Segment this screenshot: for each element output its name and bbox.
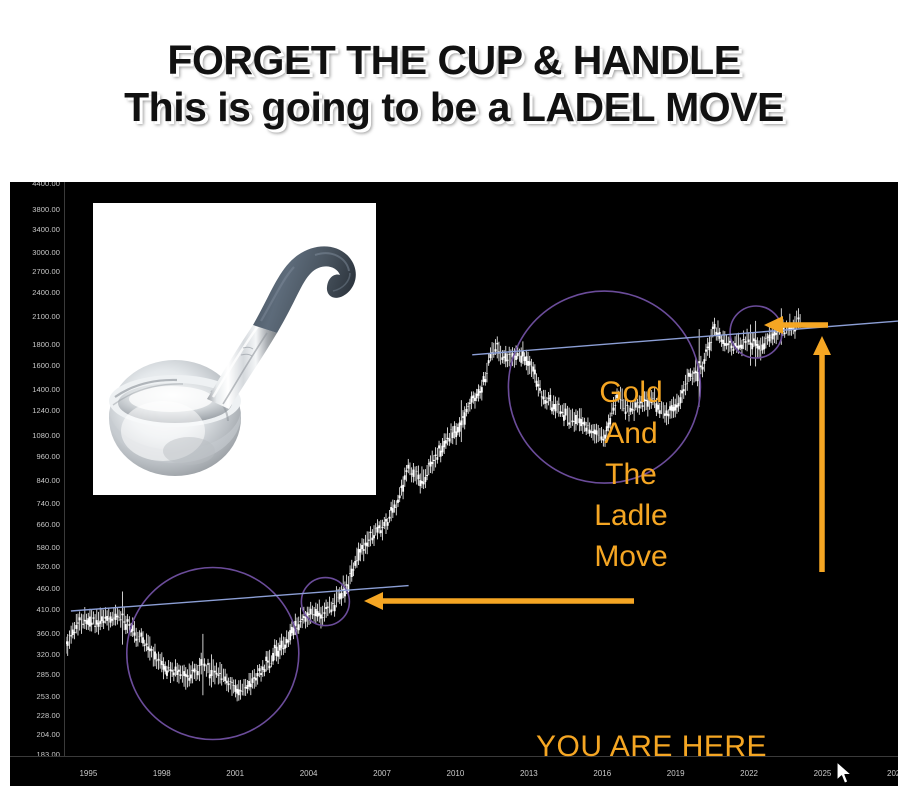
you-are-here-label: YOU ARE HERE: [536, 730, 767, 764]
x-axis-tick-label: 2007: [373, 769, 391, 778]
y-axis-tick-label: 960.00: [36, 452, 60, 461]
y-axis-tick-label: 228.00: [36, 711, 60, 720]
y-axis-tick-label: 2100.00: [32, 312, 60, 321]
y-axis-divider: [64, 182, 65, 757]
headline-line-2: This is going to be a LADEL MOVE: [0, 87, 908, 128]
x-axis-tick-label: 2025: [814, 769, 832, 778]
poster-root: FORGET THE CUP & HANDLE This is going to…: [0, 0, 908, 800]
x-axis-tick-label: 2001: [226, 769, 244, 778]
y-axis-tick-label: 4400.00: [32, 182, 60, 188]
y-axis-tick-label: 320.00: [36, 650, 60, 659]
mouse-pointer-icon: [836, 761, 854, 787]
ladle-photo: [93, 203, 376, 495]
y-axis-tick-label: 253.00: [36, 692, 60, 701]
x-axis-tick-label: 2004: [300, 769, 318, 778]
gold-ladle-line: Ladle: [576, 495, 686, 536]
x-axis-tick-label: 1995: [79, 769, 97, 778]
y-axis-tick-label: 520.00: [36, 562, 60, 571]
ladle-illustration: [93, 203, 376, 495]
x-axis-tick-label: 2013: [520, 769, 538, 778]
y-axis-tick-label: 740.00: [36, 499, 60, 508]
y-axis-tick-label: 1080.00: [32, 431, 60, 440]
y-axis-tick-label: 840.00: [36, 476, 60, 485]
y-axis-tick-label: 1400.00: [32, 385, 60, 394]
x-axis-tick-label: 2016: [593, 769, 611, 778]
x-axis-tick-label: 2019: [667, 769, 685, 778]
y-axis-tick-label: 204.00: [36, 730, 60, 739]
y-axis-tick-label: 1600.00: [32, 361, 60, 370]
y-axis: 4400.003800.003400.003000.002700.002400.…: [10, 182, 64, 757]
y-axis-tick-label: 2700.00: [32, 267, 60, 276]
y-axis-tick-label: 285.00: [36, 670, 60, 679]
gold-ladle-line: The: [576, 454, 686, 495]
y-axis-tick-label: 580.00: [36, 543, 60, 552]
y-axis-tick-label: 2400.00: [32, 288, 60, 297]
y-axis-tick-label: 460.00: [36, 584, 60, 593]
gold-ladle-line: And: [576, 413, 686, 454]
y-axis-tick-label: 3400.00: [32, 225, 60, 234]
x-axis-tick-label: 2028: [887, 769, 898, 778]
y-axis-tick-label: 3000.00: [32, 248, 60, 257]
y-axis-tick-label: 3800.00: [32, 205, 60, 214]
gold-ladle-move-label: GoldAndTheLadleMove: [576, 372, 686, 577]
y-axis-tick-label: 660.00: [36, 520, 60, 529]
gold-ladle-line: Move: [576, 536, 686, 577]
y-axis-tick-label: 1800.00: [32, 340, 60, 349]
y-axis-tick-label: 410.00: [36, 605, 60, 614]
gold-ladle-line: Gold: [576, 372, 686, 413]
y-axis-tick-label: 360.00: [36, 629, 60, 638]
x-axis-tick-label: 1998: [153, 769, 171, 778]
x-axis-tick-label: 2010: [447, 769, 465, 778]
x-axis-tick-label: 2022: [740, 769, 758, 778]
page-title: FORGET THE CUP & HANDLE This is going to…: [0, 40, 908, 128]
y-axis-tick-label: 1240.00: [32, 406, 60, 415]
headline-line-1: FORGET THE CUP & HANDLE: [0, 40, 908, 81]
